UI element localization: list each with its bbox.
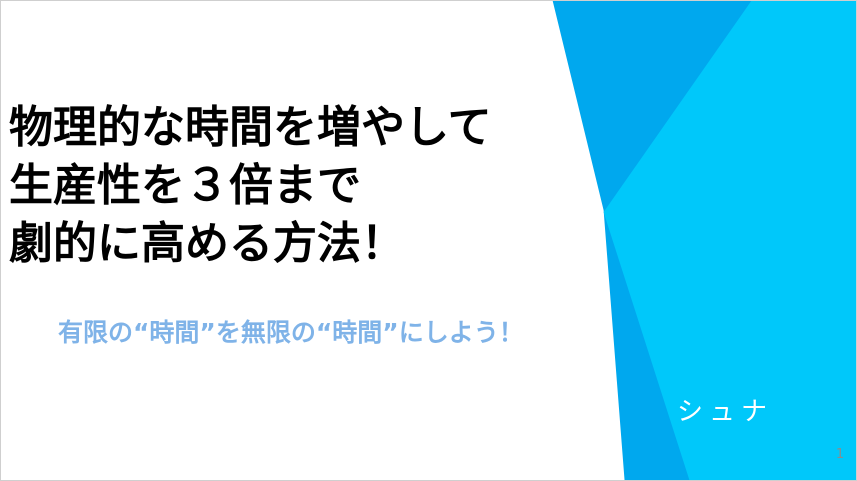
- title-slide: 物理的な時間を増やして 生産性を３倍まで 劇的に高める方法！ 有限の“時間”を無…: [0, 0, 857, 481]
- title-line-3: 劇的に高める方法！: [9, 215, 589, 273]
- page-title: 物理的な時間を増やして 生産性を３倍まで 劇的に高める方法！: [9, 99, 589, 273]
- title-line-1: 物理的な時間を増やして: [9, 99, 589, 157]
- author-name: シュナ: [677, 396, 773, 428]
- page-subtitle: 有限の“時間”を無限の“時間”にしよう！: [58, 317, 524, 349]
- title-line-2: 生産性を３倍まで: [9, 157, 589, 215]
- page-number: 1: [831, 447, 849, 463]
